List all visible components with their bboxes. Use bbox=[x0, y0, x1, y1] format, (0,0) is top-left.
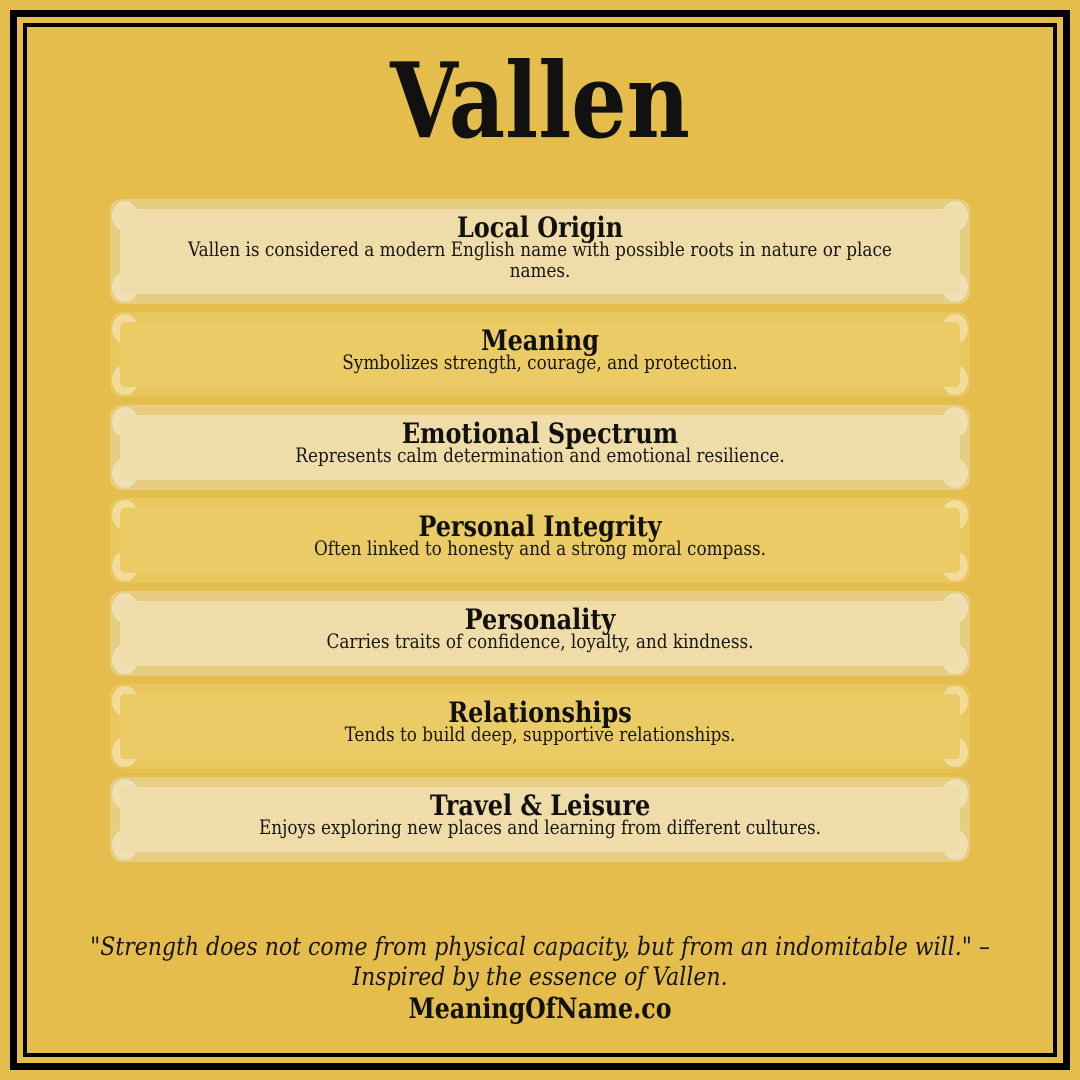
info-card-body: Personal Integrity Often linked to hones… bbox=[120, 508, 960, 573]
info-card-meaning: Meaning Symbolizes strength, courage, an… bbox=[110, 312, 970, 397]
info-card-description: Enjoys exploring new places and learning… bbox=[169, 817, 910, 838]
info-card-body: Personality Carries traits of confidence… bbox=[120, 601, 960, 666]
info-card-list: Local Origin Vallen is considered a mode… bbox=[27, 199, 1053, 862]
poster-content: Vallen Local Origin Vallen is considered… bbox=[27, 27, 1053, 1053]
info-card-description: Often linked to honesty and a strong mor… bbox=[169, 538, 910, 559]
info-card-description: Represents calm determination and emotio… bbox=[169, 445, 910, 466]
info-card-description: Tends to build deep, supportive relation… bbox=[169, 724, 910, 745]
info-card-travel-leisure: Travel & Leisure Enjoys exploring new pl… bbox=[110, 777, 970, 862]
footer-quote-line-2: Inspired by the essence of Vallen. bbox=[55, 962, 1025, 992]
name-meaning-poster: Vallen Local Origin Vallen is considered… bbox=[0, 0, 1080, 1080]
info-card-relationships: Relationships Tends to build deep, suppo… bbox=[110, 684, 970, 769]
info-card-emotional-spectrum: Emotional Spectrum Represents calm deter… bbox=[110, 405, 970, 490]
page-title: Vallen bbox=[63, 49, 1017, 153]
info-card-personality: Personality Carries traits of confidence… bbox=[110, 591, 970, 676]
footer-quote-line-1: "Strength does not come from physical ca… bbox=[55, 932, 1025, 962]
info-card-description: Symbolizes strength, courage, and protec… bbox=[169, 352, 910, 373]
brand-name: MeaningOfName.co bbox=[58, 993, 1022, 1025]
info-card-body: Meaning Symbolizes strength, courage, an… bbox=[120, 322, 960, 387]
info-card-body: Emotional Spectrum Represents calm deter… bbox=[120, 415, 960, 480]
info-card-description: Carries traits of confidence, loyalty, a… bbox=[169, 631, 910, 652]
poster-footer: "Strength does not come from physical ca… bbox=[27, 932, 1053, 1025]
info-card-local-origin: Local Origin Vallen is considered a mode… bbox=[110, 199, 970, 304]
info-card-body: Travel & Leisure Enjoys exploring new pl… bbox=[120, 787, 960, 852]
info-card-body: Local Origin Vallen is considered a mode… bbox=[120, 209, 960, 294]
info-card-description: Vallen is considered a modern English na… bbox=[169, 239, 910, 281]
info-card-body: Relationships Tends to build deep, suppo… bbox=[120, 694, 960, 759]
info-card-personal-integrity: Personal Integrity Often linked to hones… bbox=[110, 498, 970, 583]
